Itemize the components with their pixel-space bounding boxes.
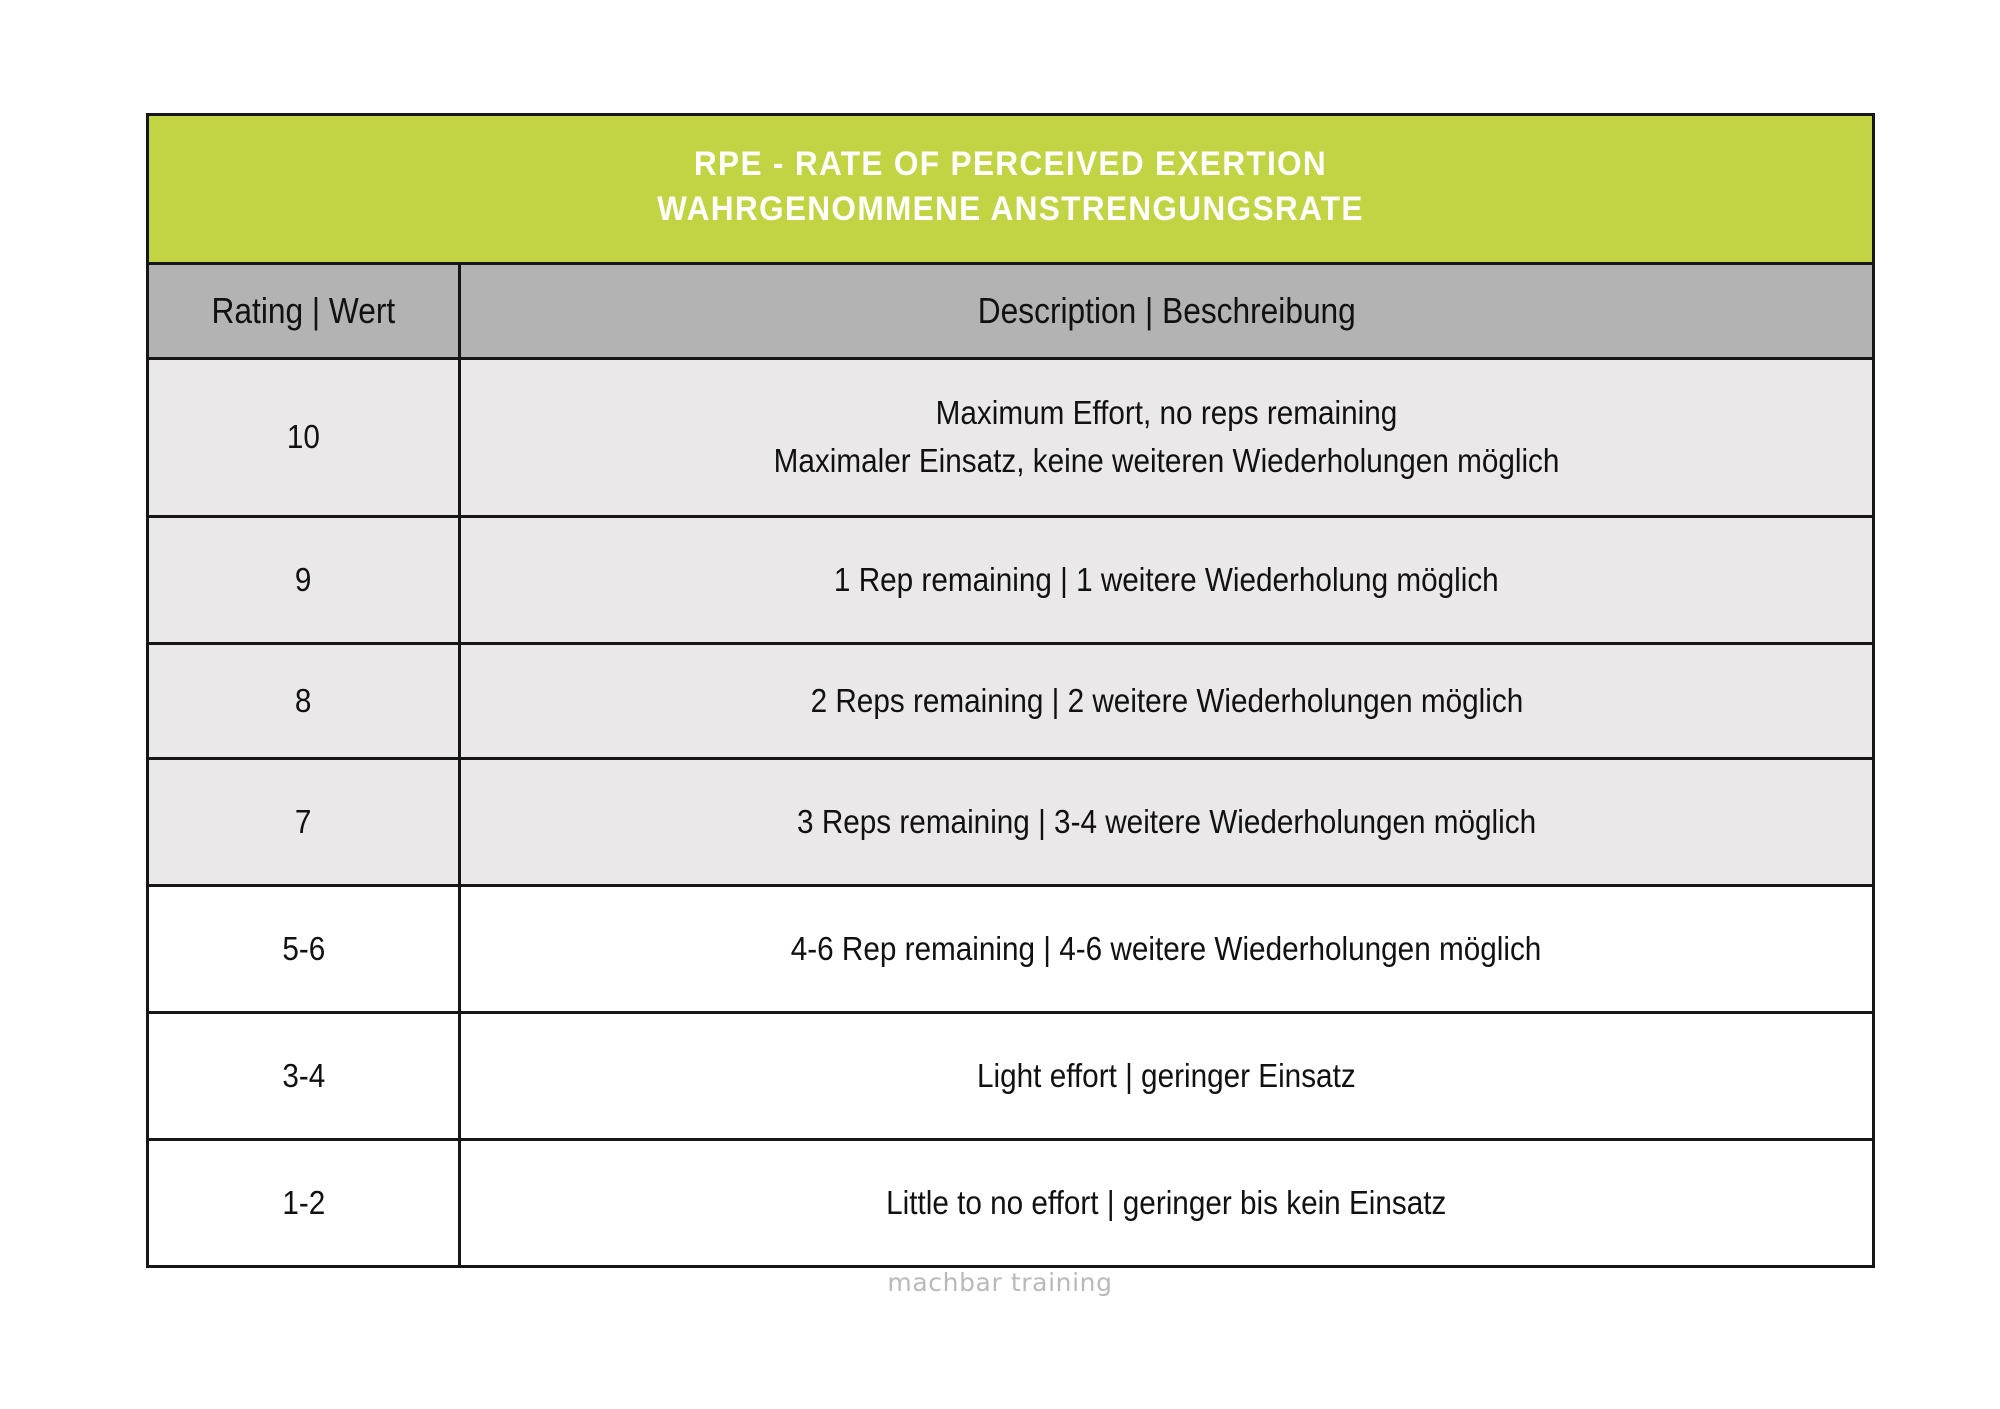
table-header-row: Rating | Wert Description | Beschreibung [149, 265, 1872, 360]
description-line: 2 Reps remaining | 2 weitere Wiederholun… [810, 677, 1523, 725]
cell-rating: 5-6 [149, 887, 461, 1011]
cell-rating: 1-2 [149, 1141, 461, 1265]
title-line-german: WAHRGENOMMENE ANSTRENGUNGSRATE [219, 187, 1803, 232]
rating-value: 1-2 [282, 1184, 325, 1222]
rating-value: 7 [295, 803, 312, 841]
cell-rating: 3-4 [149, 1014, 461, 1138]
page-root: RPE - RATE OF PERCEIVED EXERTION WAHRGEN… [0, 0, 2000, 1409]
cell-description: 3 Reps remaining | 3-4 weitere Wiederhol… [461, 760, 1872, 884]
table-row: 8 2 Reps remaining | 2 weitere Wiederhol… [149, 645, 1872, 760]
table-row: 10 Maximum Effort, no reps remaining Max… [149, 360, 1872, 518]
description-line: Maximum Effort, no reps remaining [936, 389, 1398, 437]
cell-description: Maximum Effort, no reps remaining Maxima… [461, 360, 1872, 515]
table-row: 1-2 Little to no effort | geringer bis k… [149, 1141, 1872, 1265]
rating-value: 5-6 [282, 930, 325, 968]
table-row: 3-4 Light effort | geringer Einsatz [149, 1014, 1872, 1141]
title-line-english: RPE - RATE OF PERCEIVED EXERTION [219, 142, 1803, 187]
table-title-banner: RPE - RATE OF PERCEIVED EXERTION WAHRGEN… [149, 116, 1872, 265]
rpe-table: RPE - RATE OF PERCEIVED EXERTION WAHRGEN… [146, 113, 1875, 1268]
header-label-description: Description | Beschreibung [977, 290, 1355, 332]
cell-rating: 9 [149, 518, 461, 642]
rating-value: 8 [295, 682, 312, 720]
table-row: 7 3 Reps remaining | 3-4 weitere Wiederh… [149, 760, 1872, 887]
cell-description: 1 Rep remaining | 1 weitere Wiederholung… [461, 518, 1872, 642]
table-row: 9 1 Rep remaining | 1 weitere Wiederholu… [149, 518, 1872, 645]
description-line: 3 Reps remaining | 3-4 weitere Wiederhol… [797, 798, 1536, 846]
footer-brand-label: machbar training [887, 1268, 1112, 1297]
cell-description: 2 Reps remaining | 2 weitere Wiederholun… [461, 645, 1872, 757]
rating-value: 10 [287, 418, 320, 456]
cell-description: Little to no effort | geringer bis kein … [461, 1141, 1872, 1265]
header-label-rating: Rating | Wert [212, 290, 396, 332]
description-line: 1 Rep remaining | 1 weitere Wiederholung… [834, 556, 1499, 604]
rating-value: 3-4 [282, 1057, 325, 1095]
table-row: 5-6 4-6 Rep remaining | 4-6 weitere Wied… [149, 887, 1872, 1014]
cell-description: 4-6 Rep remaining | 4-6 weitere Wiederho… [461, 887, 1872, 1011]
header-cell-description: Description | Beschreibung [461, 265, 1872, 357]
description-line: Little to no effort | geringer bis kein … [886, 1179, 1446, 1227]
description-line: 4-6 Rep remaining | 4-6 weitere Wiederho… [791, 925, 1542, 973]
cell-description: Light effort | geringer Einsatz [461, 1014, 1872, 1138]
footer: machbar training [0, 1268, 2000, 1297]
description-line: Maximaler Einsatz, keine weiteren Wieder… [774, 437, 1560, 485]
description-line: Light effort | geringer Einsatz [977, 1052, 1356, 1100]
cell-rating: 10 [149, 360, 461, 515]
cell-rating: 8 [149, 645, 461, 757]
table-grid: Rating | Wert Description | Beschreibung… [149, 265, 1872, 1265]
header-cell-rating: Rating | Wert [149, 265, 461, 357]
cell-rating: 7 [149, 760, 461, 884]
rating-value: 9 [295, 561, 312, 599]
